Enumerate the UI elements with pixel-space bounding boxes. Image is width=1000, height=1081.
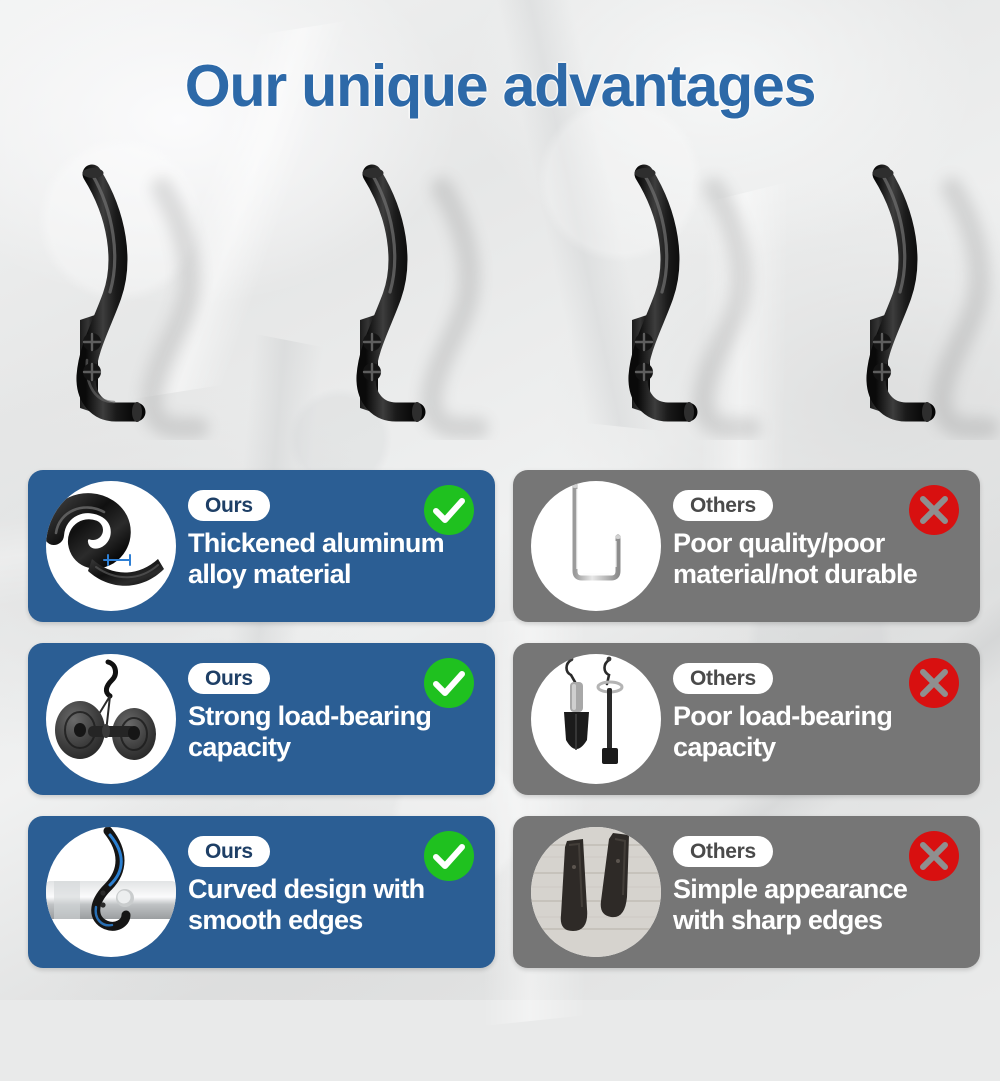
ours-label: Ours xyxy=(188,663,270,694)
coat-hook-product xyxy=(592,150,782,440)
others-label: Others xyxy=(673,490,773,521)
others-label: Others xyxy=(673,663,773,694)
others-card-material[interactable]: Others Poor quality/poor material/not du… xyxy=(513,470,980,622)
others-feature-text: Simple appearance with sharp edges xyxy=(673,874,965,935)
others-feature-text: Poor load-bearing capacity xyxy=(673,701,965,762)
ours-card-design[interactable]: Ours Curved design with smooth edges xyxy=(28,816,495,968)
rusty-square-hooks-image xyxy=(531,827,661,957)
check-icon xyxy=(423,657,475,709)
others-feature-text: Poor quality/poor material/not durable xyxy=(673,528,965,589)
ours-card-material[interactable]: Ours Thickened aluminum alloy material xyxy=(28,470,495,622)
others-label-text: Others xyxy=(690,494,756,518)
comparison-grid: Ours Thickened aluminum alloy material xyxy=(0,470,1000,968)
cross-icon xyxy=(908,484,960,536)
ours-feature-text: Strong load-bearing capacity xyxy=(188,701,480,762)
ours-label-text: Ours xyxy=(205,494,253,518)
dumbbell-on-hook-image xyxy=(46,654,176,784)
others-label: Others xyxy=(673,836,773,867)
ours-card-load[interactable]: Ours Strong load-bearing capacity xyxy=(28,643,495,795)
cross-icon xyxy=(908,830,960,882)
page-title: Our unique advantages xyxy=(0,52,1000,120)
ours-label-text: Ours xyxy=(205,667,253,691)
cross-icon xyxy=(908,657,960,709)
comparison-row: Ours Curved design with smooth edges xyxy=(0,816,1000,968)
others-label-text: Others xyxy=(690,667,756,691)
hook-cross-section-image xyxy=(46,481,176,611)
hero-product-row xyxy=(0,150,1000,450)
others-label-text: Others xyxy=(690,840,756,864)
check-icon xyxy=(423,484,475,536)
ours-feature-text: Thickened aluminum alloy material xyxy=(188,528,480,589)
ours-label: Ours xyxy=(188,836,270,867)
coat-hook-product xyxy=(830,150,1000,440)
thin-wire-hook-image xyxy=(531,481,661,611)
coat-hook-product xyxy=(40,150,230,440)
coat-hook-product xyxy=(320,150,510,440)
curved-hook-on-plate-image xyxy=(46,827,176,957)
ours-feature-text: Curved design with smooth edges xyxy=(188,874,480,935)
garden-tools-on-hooks-image xyxy=(531,654,661,784)
others-card-design[interactable]: Others Simple appearance with sharp edge… xyxy=(513,816,980,968)
others-card-load[interactable]: Others Poor load-bearing capacity xyxy=(513,643,980,795)
check-icon xyxy=(423,830,475,882)
comparison-row: Ours Thickened aluminum alloy material xyxy=(0,470,1000,622)
comparison-row: Ours Strong load-bearing capacity xyxy=(0,643,1000,795)
ours-label-text: Ours xyxy=(205,840,253,864)
ours-label: Ours xyxy=(188,490,270,521)
